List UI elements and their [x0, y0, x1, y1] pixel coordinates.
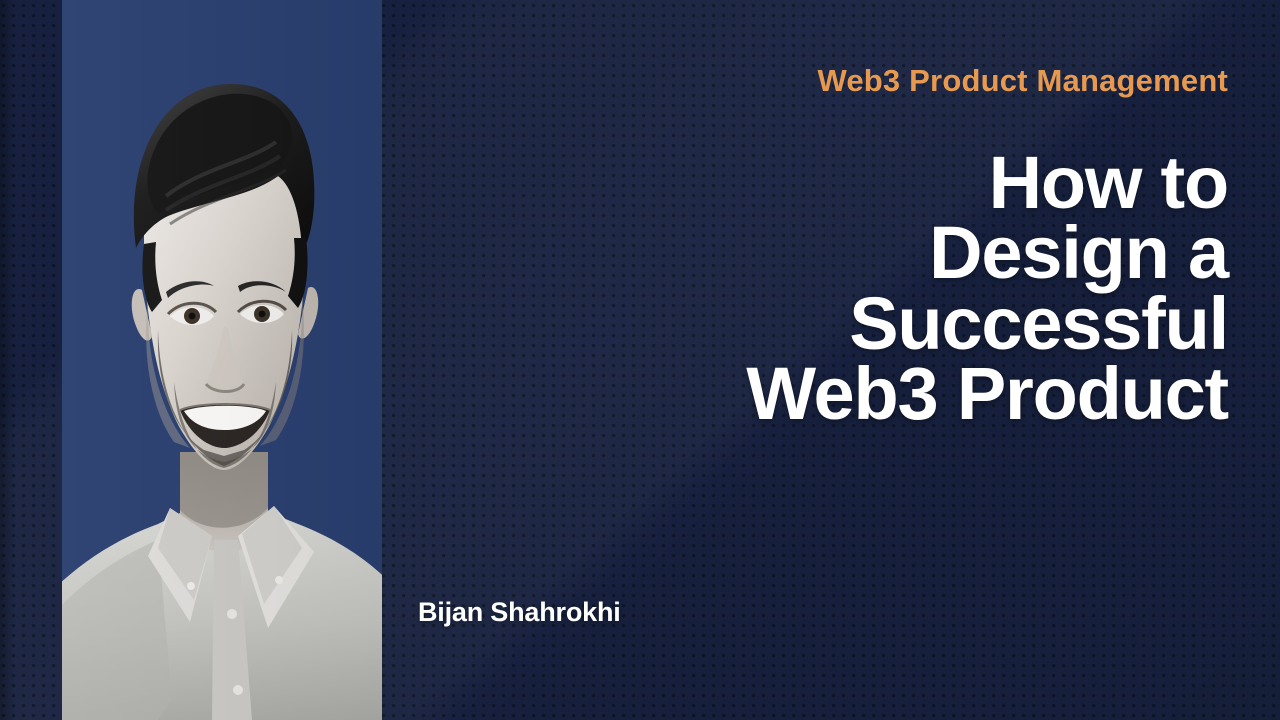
- series-eyebrow-label: Web3 Product Management: [817, 63, 1228, 99]
- slide-content: Web3 Product Management How to Design a …: [382, 0, 1280, 720]
- title-line-1: How to: [508, 148, 1228, 218]
- speaker-portrait-photo: [62, 0, 382, 720]
- slide-title: How to Design a Successful Web3 Product: [508, 148, 1228, 429]
- title-line-2: Design a: [508, 218, 1228, 288]
- speaker-name: Bijan Shahrokhi: [418, 597, 621, 628]
- title-slide: Web3 Product Management How to Design a …: [0, 0, 1280, 720]
- title-line-4: Web3 Product: [508, 359, 1228, 429]
- background-left-edge-shade: [0, 0, 16, 720]
- speaker-photo-panel: [62, 0, 382, 720]
- title-line-3: Successful: [508, 289, 1228, 359]
